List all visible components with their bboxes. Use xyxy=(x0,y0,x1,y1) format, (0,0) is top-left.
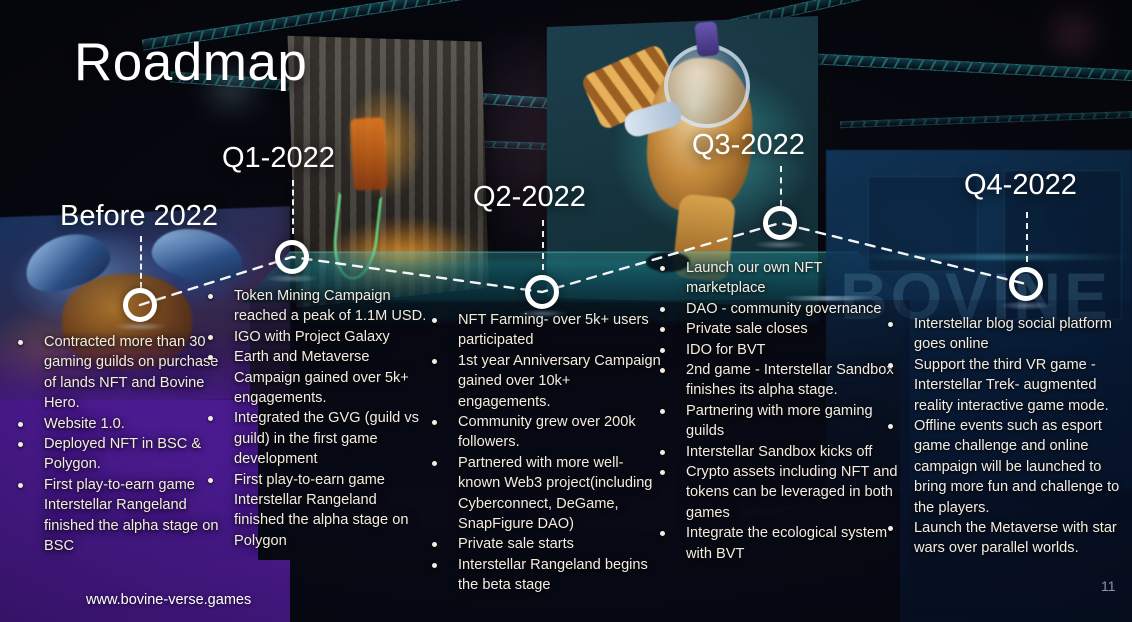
list-item: Private sale closes xyxy=(652,319,904,339)
list-item: Partnered with more well-known Web3 proj… xyxy=(424,453,664,535)
list-item: Interstellar blog social platform goes o… xyxy=(880,314,1128,355)
list-item: Launch our own NFT marketplace xyxy=(652,258,904,299)
list-item: Contracted more than 30 gaming guilds on… xyxy=(10,332,224,414)
list-item: DAO - community governance xyxy=(652,299,904,319)
bullet-list: Launch our own NFT marketplaceDAO - comm… xyxy=(652,258,904,564)
list-item: First play-to-earn game Interstellar Ran… xyxy=(10,475,224,557)
list-item: 2nd game - Interstellar Sandbox finishes… xyxy=(652,360,904,401)
bullet-list: Interstellar blog social platform goes o… xyxy=(880,314,1128,559)
website-url: www.bovine-verse.games xyxy=(86,592,251,608)
bullet-list: NFT Farming- over 5k+ users participated… xyxy=(424,310,664,596)
list-item: Offline events such as esport game chall… xyxy=(880,416,1128,518)
list-item: Launch the Metaverse with star wars over… xyxy=(880,518,1128,559)
list-item: Deployed NFT in BSC & Polygon. xyxy=(10,434,224,475)
bullet-list: Contracted more than 30 gaming guilds on… xyxy=(10,332,224,556)
list-item: Support the third VR game - Interstellar… xyxy=(880,355,1128,416)
list-item: Partnering with more gaming guilds xyxy=(652,401,904,442)
roadmap-slide: BOVINE Roadmap Before 2022Q1-2022Q2-2022… xyxy=(0,0,1132,622)
list-item: IDO for BVT xyxy=(652,340,904,360)
list-item: NFT Farming- over 5k+ users participated xyxy=(424,310,664,351)
list-item: Interstellar Sandbox kicks off xyxy=(652,442,904,462)
milestone-column-q2-2022: NFT Farming- over 5k+ users participated… xyxy=(424,310,664,596)
list-item: 1st year Anniversary Campaign gained ove… xyxy=(424,351,664,412)
list-item: Community grew over 200k followers. xyxy=(424,412,664,453)
bullet-list: Token Mining Campaign reached a peak of … xyxy=(200,286,428,551)
list-item: Private sale starts xyxy=(424,534,664,554)
list-item: IGO with Project Galaxy xyxy=(200,327,428,347)
list-item: Token Mining Campaign reached a peak of … xyxy=(200,286,428,327)
page-title: Roadmap xyxy=(74,36,307,89)
list-item: Earth and Metaverse Campaign gained over… xyxy=(200,347,428,408)
list-item: Interstellar Rangeland begins the beta s… xyxy=(424,555,664,596)
list-item: Integrated the GVG (guild vs guild) in t… xyxy=(200,408,428,469)
page-number: 11 xyxy=(1101,578,1116,594)
milestone-column-before-2022: Contracted more than 30 gaming guilds on… xyxy=(10,332,224,556)
milestone-column-q3-2022: Launch our own NFT marketplaceDAO - comm… xyxy=(652,258,904,564)
list-item: First play-to-earn game Interstellar Ran… xyxy=(200,470,428,552)
list-item: Crypto assets including NFT and tokens c… xyxy=(652,462,904,523)
list-item: Integrate the ecological system with BVT xyxy=(652,523,904,564)
milestone-column-q4-2022: Interstellar blog social platform goes o… xyxy=(880,314,1128,559)
milestone-column-q1-2022: Token Mining Campaign reached a peak of … xyxy=(200,286,428,551)
list-item: Website 1.0. xyxy=(10,414,224,434)
